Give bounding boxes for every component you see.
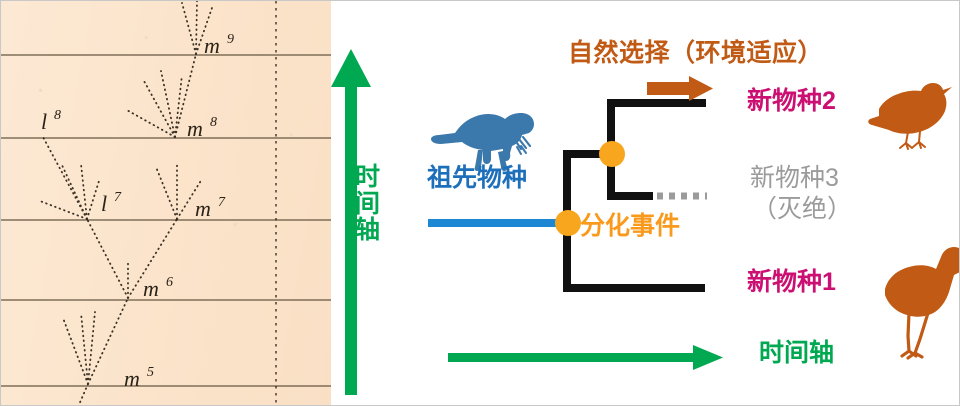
cladogram-panel: 自然选择（环境适应） 祖先物种 分化事件 新物种2 新物种3 （灭绝） 新物种1…: [331, 1, 960, 406]
svg-text:m: m: [143, 276, 159, 301]
sketch-node-labels: m 9 l 8 m 8 l 7 m 7 m 6 m 5: [41, 32, 234, 391]
time-axis-vertical-label: 时 间 轴: [355, 164, 380, 244]
ancestor-species-label: 祖先物种: [427, 166, 527, 192]
divergence-node-root: [555, 210, 581, 236]
darwin-notebook-sketch: m 9 l 8 m 8 l 7 m 7 m 6 m 5: [1, 1, 331, 406]
species-3-status-label: （灭绝）: [752, 197, 852, 223]
songbird-icon: [868, 83, 952, 149]
divergence-node-upper: [599, 141, 625, 167]
time-axis-horizontal-label: 时间轴: [759, 341, 834, 367]
time-axis-vertical-char-1: 时: [355, 164, 380, 191]
species-2-label: 新物种2: [747, 89, 836, 115]
time-axis-horizontal-arrow: [448, 345, 723, 370]
svg-text:m: m: [204, 33, 220, 58]
svg-text:m: m: [195, 196, 211, 221]
svg-text:l: l: [41, 109, 47, 134]
time-axis-vertical-char-3: 轴: [355, 217, 380, 244]
natural-selection-arrow: [647, 76, 713, 101]
species-1-label: 新物种1: [747, 270, 836, 296]
ostrich-icon: [885, 247, 960, 358]
dinosaur-icon: [431, 113, 534, 171]
svg-text:6: 6: [166, 275, 173, 290]
darwin-sketch-vector: m 9 l 8 m 8 l 7 m 7 m 6 m 5: [1, 1, 331, 406]
svg-text:9: 9: [227, 32, 234, 47]
species-3-label: 新物种3: [750, 166, 839, 192]
svg-text:m: m: [124, 366, 140, 391]
svg-text:7: 7: [218, 195, 226, 210]
svg-text:l: l: [101, 191, 107, 216]
svg-text:m: m: [187, 116, 203, 141]
dotted-branches: [40, 1, 213, 406]
svg-text:8: 8: [54, 108, 61, 123]
svg-text:8: 8: [210, 115, 217, 130]
time-axis-vertical-char-2: 间: [355, 191, 380, 218]
divergence-event-label: 分化事件: [580, 214, 680, 240]
svg-text:7: 7: [114, 190, 122, 205]
svg-text:5: 5: [147, 365, 154, 380]
ruled-lines: [1, 55, 331, 386]
figure-root: m 9 l 8 m 8 l 7 m 7 m 6 m 5: [0, 0, 960, 406]
natural-selection-title: 自然选择（环境适应）: [568, 41, 823, 67]
